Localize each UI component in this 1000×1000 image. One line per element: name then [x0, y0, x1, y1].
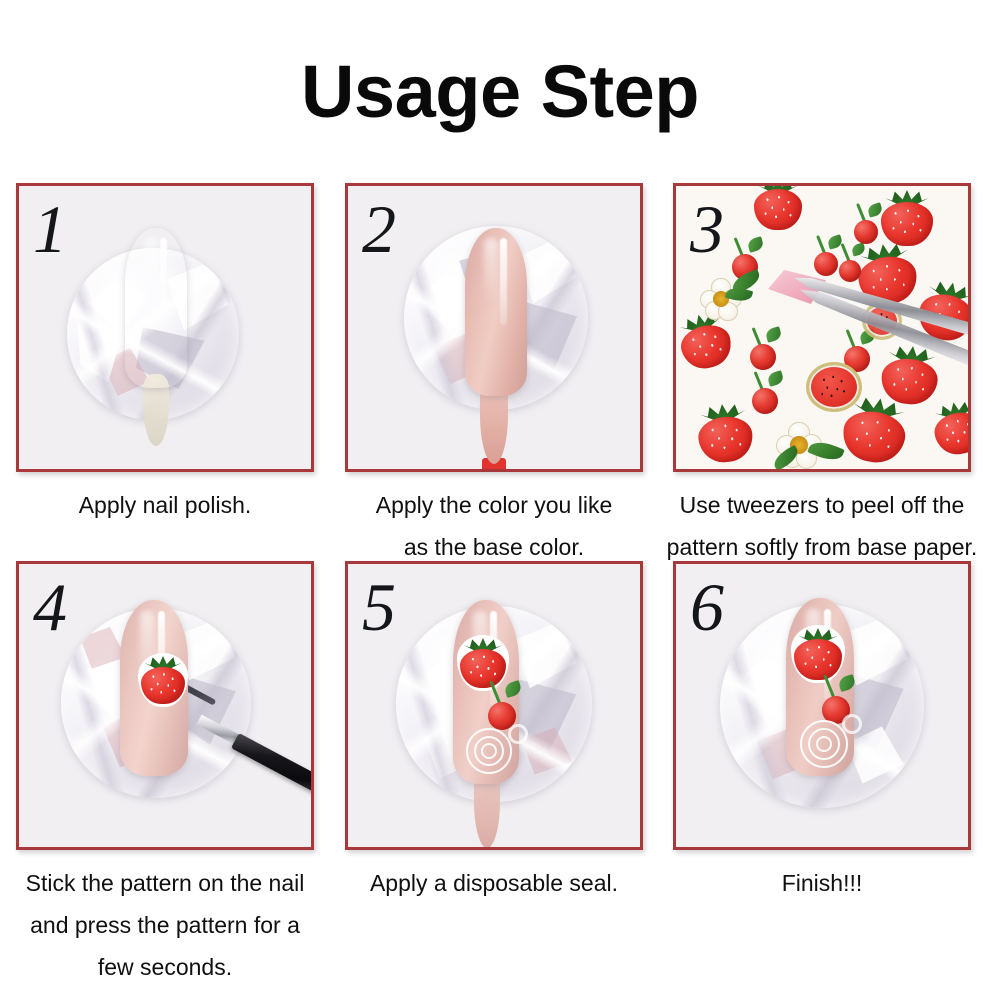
step-cell-5: 5 Apply a disposable seal. [337, 561, 651, 904]
step-cell-3: 3 Use tweezers to peel off the pattern s… [665, 183, 979, 568]
step-cell-2: 2 Apply the color you like as the base c… [337, 183, 651, 568]
dot-decal-icon [508, 724, 528, 744]
step-number-2: 2 [362, 188, 396, 270]
step-number-3: 3 [690, 188, 724, 270]
swirl-decal-icon [800, 720, 848, 768]
strawberry-sticker-icon [695, 401, 755, 464]
flower-sticker-icon [700, 278, 742, 320]
strawberry-decal-icon [141, 656, 185, 704]
step-caption-4: Stick the pattern on the nail and press … [8, 862, 322, 988]
step-cell-6: 6 Finish!!! [665, 561, 979, 904]
step-photo-2: 2 [345, 183, 643, 472]
strawberry-decal-icon [794, 628, 842, 680]
dot-decal-icon [842, 714, 862, 734]
step-caption-5: Apply a disposable seal. [337, 862, 651, 904]
step-cell-4: 4 Stick the pattern on the nail and pres… [8, 561, 322, 988]
strawberry-sticker-icon [879, 343, 941, 407]
steps-row-1: 1 Apply nail polish. [0, 183, 1000, 561]
steps-row-2: 4 Stick the pattern on the nail and pres… [0, 561, 1000, 939]
step-photo-5: 5 [345, 561, 643, 850]
step-number-4: 4 [33, 566, 67, 648]
usage-steps-grid: 1 Apply nail polish. [0, 183, 1000, 939]
strawberry-sticker-icon [930, 398, 968, 458]
step-caption-6: Finish!!! [665, 862, 979, 904]
strawberry-sticker-icon [754, 186, 802, 230]
swirl-decal-icon [466, 728, 512, 774]
step-caption-1: Apply nail polish. [8, 484, 322, 526]
step-photo-3: 3 [673, 183, 971, 472]
step-caption-2: Apply the color you like as the base col… [337, 484, 651, 568]
step-number-1: 1 [33, 188, 67, 270]
step-caption-3: Use tweezers to peel off the pattern sof… [665, 484, 979, 568]
nail-icon [465, 228, 527, 396]
step-number-5: 5 [362, 566, 396, 648]
page-title: Usage Step [0, 52, 1000, 132]
cherry-sticker-icon [814, 236, 838, 276]
watermelon-sticker-icon [806, 362, 862, 412]
strawberry-decal-icon [460, 638, 506, 688]
step-number-6: 6 [690, 566, 724, 648]
cherry-sticker-icon [752, 372, 778, 414]
cherry-sticker-icon [750, 328, 776, 370]
flower-sticker-icon [776, 422, 822, 468]
cherry-sticker-icon [839, 244, 861, 282]
nail-icon [125, 228, 187, 388]
step-photo-4: 4 [16, 561, 314, 850]
step-photo-6: 6 [673, 561, 971, 850]
cherry-sticker-icon [854, 204, 878, 244]
step-cell-1: 1 Apply nail polish. [8, 183, 322, 526]
strawberry-sticker-icon [881, 190, 933, 246]
brush-icon [231, 733, 311, 800]
cherry-decal-icon [488, 682, 516, 730]
step-photo-1: 1 [16, 183, 314, 472]
